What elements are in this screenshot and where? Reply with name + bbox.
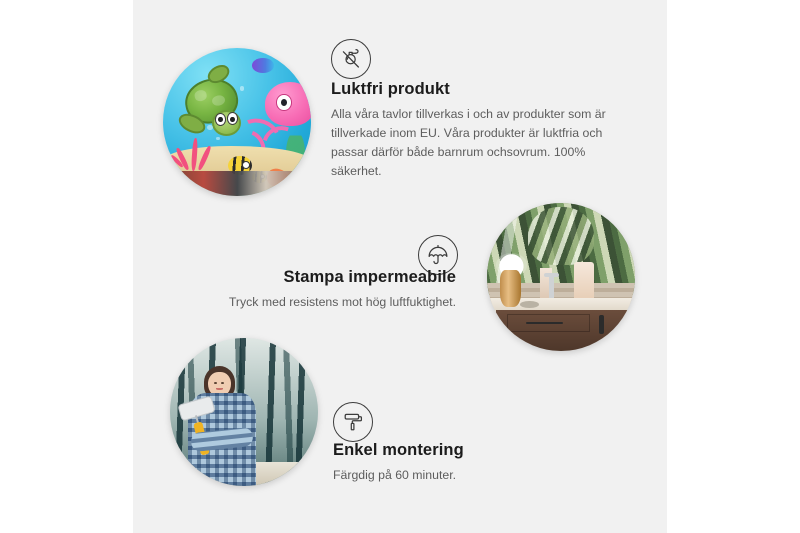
no-smell-perfume-icon — [331, 39, 371, 79]
bubble-2 — [216, 137, 220, 141]
bathroom-scene — [487, 203, 635, 351]
feature-title-odourless: Luktfri produkt — [331, 80, 631, 100]
feature-image-underwater-turtle-octopus-mural — [163, 48, 311, 196]
feature-body-odourless: Alla våra tavlor tillverkas i och av pro… — [331, 105, 631, 181]
feature-body-easy-mounting: Färgdig på 60 minuter. — [333, 466, 613, 485]
paint-roller-icon — [333, 402, 373, 442]
octopus-eye — [276, 94, 291, 111]
brass-vase — [500, 270, 521, 307]
photo-bottom-strip — [175, 171, 305, 196]
soap-dish — [520, 301, 539, 308]
underwater-scene — [163, 48, 311, 196]
feature-text-waterproof: Stampa impermeabile Tryck med resistens … — [196, 268, 456, 312]
feature-text-easy-mounting: Enkel montering Färgdig på 60 minuter. — [333, 441, 613, 485]
blue-fish-shape — [252, 58, 274, 73]
feature-image-bathroom-botanical-wallpaper — [487, 203, 635, 351]
bubble-3 — [240, 86, 244, 90]
pink-coral-shape — [175, 132, 219, 170]
wood-vanity-cabinet — [496, 310, 635, 351]
feature-title-easy-mounting: Enkel montering — [333, 441, 613, 461]
feature-text-odourless: Luktfri produkt Alla våra tavlor tillver… — [331, 80, 631, 181]
product-feature-infographic: Luktfri produkt Alla våra tavlor tillver… — [0, 0, 800, 533]
feature-title-waterproof: Stampa impermeabile — [196, 268, 456, 288]
bubble-1 — [207, 125, 212, 130]
feature-body-waterproof: Tryck med resistens mot hög luftfuktighe… — [196, 293, 456, 312]
forest-mural-scene — [170, 338, 318, 486]
feature-image-woman-painter-forest-mural — [170, 338, 318, 486]
